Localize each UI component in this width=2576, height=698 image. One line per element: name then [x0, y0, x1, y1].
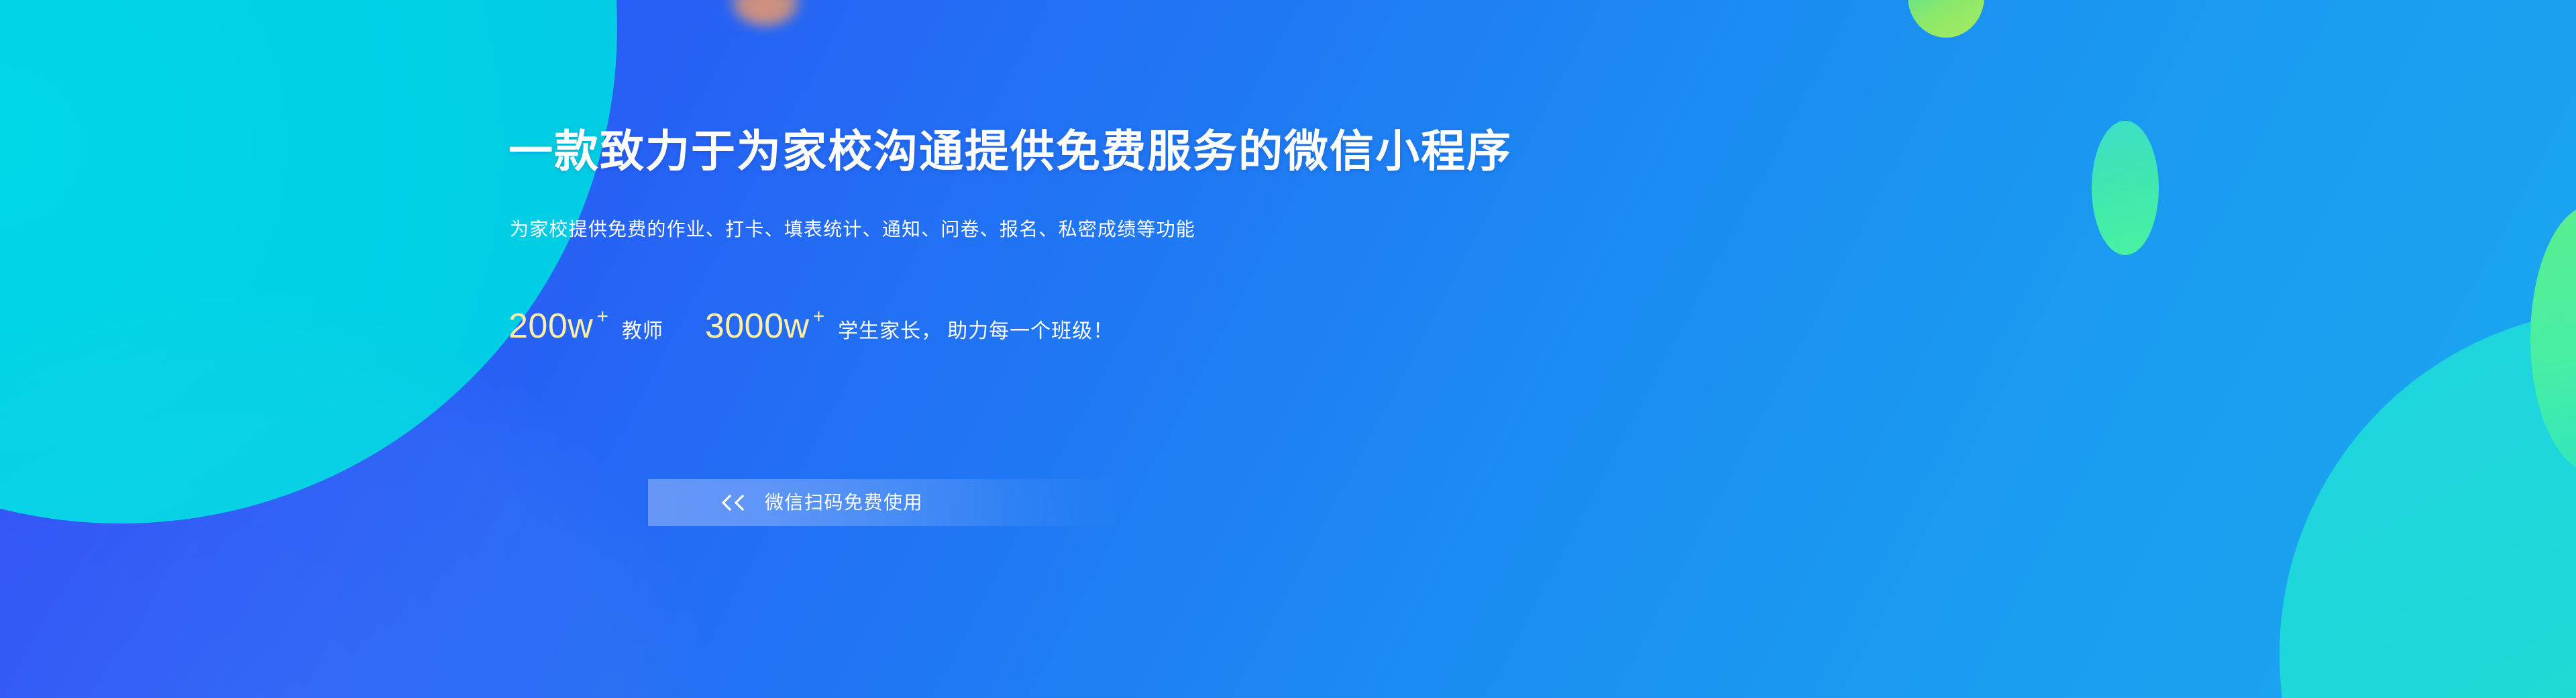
stat-teachers-plus: + [596, 307, 608, 327]
teal-circle-bottom-right-shape [2279, 309, 2576, 698]
stat-teachers-label: 教师 [622, 321, 663, 342]
stat-teachers-number: 200w [508, 309, 593, 344]
stat-parents-plus: + [813, 307, 825, 327]
stat-teachers: 200w + 教师 [508, 309, 663, 344]
stat-parents: 3000w + 学生家长， [705, 309, 942, 344]
hero-stats: 200w + 教师 3000w + 学生家长， 助力每一个班级！ [508, 309, 1114, 344]
green-sliver-right-edge-shape [2530, 204, 2576, 472]
stat-parents-label: 学生家长， [838, 321, 942, 342]
stat-parents-number: 3000w [705, 309, 810, 344]
hero-banner: 一款致力于为家校沟通提供免费服务的微信小程序 为家校提供免费的作业、打卡、填表统… [0, 0, 2576, 698]
hero-subtitle: 为家校提供免费的作业、打卡、填表统计、通知、问卷、报名、私密成绩等功能 [510, 220, 1195, 239]
wechat-scan-cta-button[interactable]: 微信扫码免费使用 [648, 479, 1118, 526]
hero-tagline: 助力每一个班级！ [947, 321, 1114, 342]
hero-headline: 一款致力于为家校沟通提供免费服务的微信小程序 [508, 129, 1512, 173]
wechat-scan-cta-label: 微信扫码免费使用 [765, 493, 923, 512]
hero-content: 一款致力于为家校沟通提供免费服务的微信小程序 为家校提供免费的作业、打卡、填表统… [508, 0, 2118, 698]
double-chevron-left-icon [720, 494, 745, 511]
